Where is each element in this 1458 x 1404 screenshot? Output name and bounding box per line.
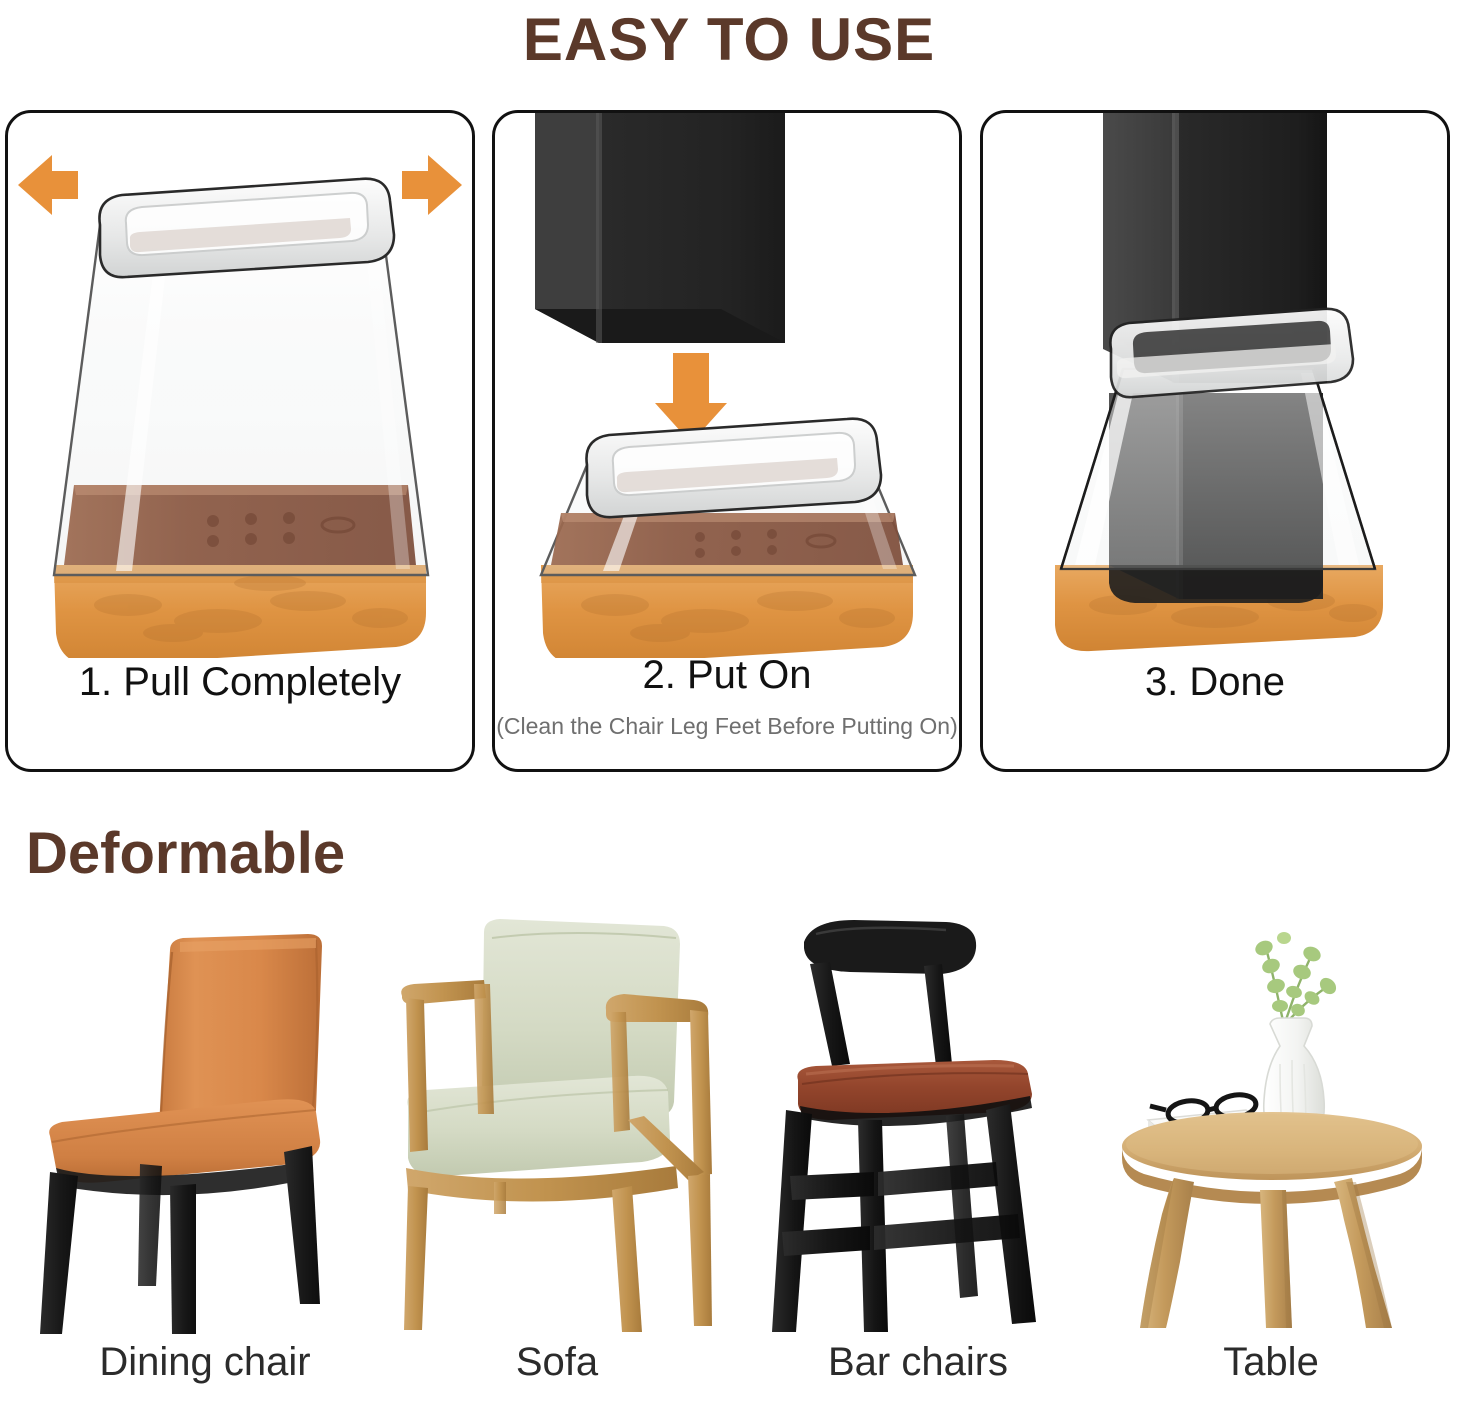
- cap-inner-pad: [64, 485, 416, 565]
- cap-top-rim: [99, 179, 394, 277]
- step-panel-1: 1. Pull Completely: [5, 110, 475, 772]
- gallery-item-table: Table: [1096, 900, 1446, 1404]
- sofa-armchair-illustration: [392, 914, 722, 1334]
- step-2-illustration: [495, 113, 959, 658]
- arrow-left-icon: [18, 155, 78, 215]
- gallery-label-sofa: Sofa: [392, 1334, 722, 1404]
- gallery-label-table: Table: [1096, 1334, 1446, 1404]
- step-panel-3: 3. Done: [980, 110, 1450, 772]
- bar-chair-illustration: [746, 914, 1090, 1334]
- furniture-gallery: Dining chair: [0, 900, 1458, 1404]
- furniture-leg-illustration: [535, 113, 785, 343]
- steps-row: 1. Pull Completely: [5, 110, 1453, 772]
- step-1-illustration: [8, 113, 472, 658]
- bar-chair-back-posts: [810, 962, 952, 1066]
- step-panel-2: 2. Put On (Clean the Chair Leg Feet Befo…: [492, 110, 962, 772]
- gallery-label-dining-chair: Dining chair: [20, 1334, 390, 1404]
- arrow-right-icon: [402, 155, 462, 215]
- bar-chair-footrest: [782, 1162, 1020, 1256]
- step-3-illustration: [983, 113, 1447, 658]
- section-title: Deformable: [26, 818, 345, 890]
- gallery-label-bar-chair: Bar chairs: [746, 1334, 1090, 1404]
- side-table-illustration: [1096, 914, 1446, 1334]
- plant-leaves: [1253, 932, 1339, 1018]
- step-2-caption: 2. Put On: [495, 651, 959, 699]
- step-2-subcaption: (Clean the Chair Leg Feet Before Putting…: [495, 711, 959, 741]
- page-title: EASY TO USE: [0, 2, 1458, 78]
- dining-chair-illustration: [20, 914, 390, 1334]
- product-infographic: EASY TO USE: [0, 0, 1458, 1404]
- step-1-caption: 1. Pull Completely: [8, 658, 472, 706]
- cap-top-rim: [1110, 309, 1353, 397]
- cap-top-rim: [586, 419, 881, 517]
- gallery-item-bar-chair: Bar chairs: [746, 900, 1090, 1404]
- gallery-item-dining-chair: Dining chair: [20, 900, 390, 1404]
- gallery-item-sofa: Sofa: [392, 900, 722, 1404]
- step-3-caption: 3. Done: [983, 658, 1447, 706]
